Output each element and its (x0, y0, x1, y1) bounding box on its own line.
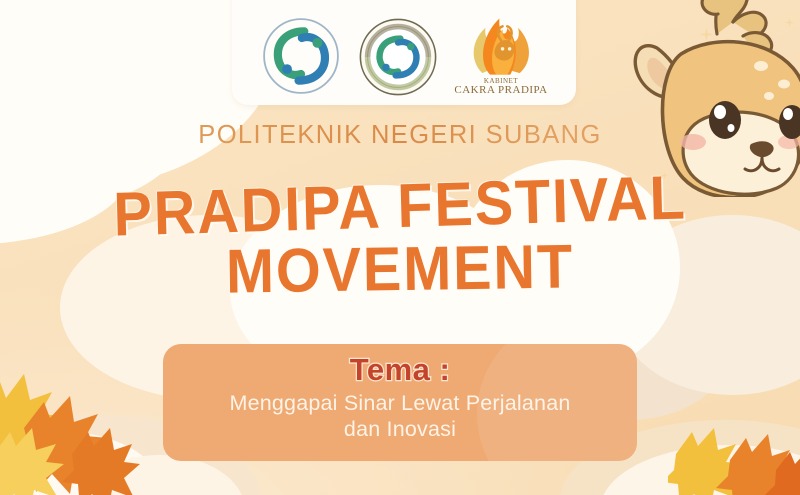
flame-deer-icon (462, 12, 540, 78)
polsub-emblem-icon (260, 15, 342, 97)
title-line-2: MOVEMENT (28, 235, 773, 303)
page-title: PRADIPA FESTIVAL MOVEMENT (0, 178, 800, 298)
theme-text: Menggapai Sinar Lewat Perjalanan dan Ino… (163, 390, 637, 442)
bem-seal-logo (358, 17, 438, 97)
polsub-logo (260, 15, 342, 97)
kabinet-caption: KABINET CAKRA PRADIPA (454, 78, 547, 97)
poster-canvas: KABINET CAKRA PRADIPA POLITEKNIK NEGERI … (0, 0, 800, 495)
bem-seal-icon (358, 17, 438, 97)
kabinet-flame-logo: KABINET CAKRA PRADIPA (454, 12, 547, 97)
theme-text-line-1: Menggapai Sinar Lewat Perjalanan (163, 390, 637, 416)
theme-label: Tema : (163, 352, 637, 388)
kabinet-caption-line-2: CAKRA PRADIPA (454, 85, 547, 97)
institution-name: POLITEKNIK NEGERI SUBANG (0, 121, 800, 150)
theme-text-line-2: dan Inovasi (163, 416, 637, 442)
autumn-leaves-right-icon (668, 414, 800, 495)
autumn-leaves-left-icon (0, 358, 186, 495)
theme-box: Tema : Menggapai Sinar Lewat Perjalanan … (163, 344, 637, 461)
logo-panel: KABINET CAKRA PRADIPA (232, 0, 576, 105)
